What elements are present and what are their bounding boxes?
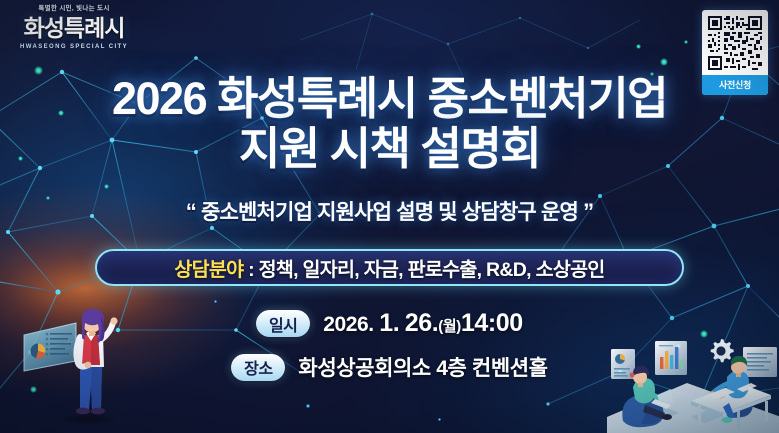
logo-wordmark: 화성특례시 xyxy=(14,17,134,40)
date-year: 2026. xyxy=(323,313,374,336)
venue-row: 장소 화성상공회의소 4층 컨벤션홀 xyxy=(0,352,779,382)
quote-close: ” xyxy=(583,199,593,224)
date-value: 2026. 1. 26.(월)14:00 xyxy=(323,309,523,338)
consultation-field-text: 상담분야 : 정책, 일자리, 자금, 판로수출, R&D, 소상공인 xyxy=(174,253,604,282)
consultation-field-label: 상담분야 xyxy=(174,259,243,281)
event-poster: 특별한 시민, 빛나는 도시 화성특례시 HWASEONG SPECIAL CI… xyxy=(0,0,779,433)
quote-open: “ xyxy=(186,199,196,224)
date-badge: 일시 xyxy=(256,310,310,337)
venue-value: 화성상공회의소 4층 컨벤션홀 xyxy=(298,352,547,382)
date-month: 1. xyxy=(379,309,399,337)
date-weekday: (월) xyxy=(438,318,461,335)
subtitle-text: 중소벤처기업 지원사업 설명 및 상담창구 운영 xyxy=(201,201,578,224)
date-row: 일시 2026. 1. 26.(월)14:00 xyxy=(0,309,779,338)
consultation-field-value: 정책, 일자리, 자금, 판로수출, R&D, 소상공인 xyxy=(259,259,605,281)
page-title: 2026 화성특례시 중소벤처기업 지원 시책 설명회 xyxy=(0,74,779,173)
consultation-field-box: 상담분야 : 정책, 일자리, 자금, 판로수출, R&D, 소상공인 xyxy=(95,249,684,286)
logo-subtext: HWASEONG SPECIAL CITY xyxy=(14,44,134,50)
subtitle: “ 중소벤처기업 지원사업 설명 및 상담창구 운영 ” xyxy=(0,196,779,226)
title-line-1: 2026 화성특례시 중소벤처기업 xyxy=(0,74,779,124)
date-day: 26. xyxy=(405,309,439,337)
qr-code-icon[interactable] xyxy=(706,14,764,72)
date-time: 14:00 xyxy=(461,309,523,337)
venue-badge: 장소 xyxy=(231,354,285,381)
hwaseong-city-logo: 특별한 시민, 빛나는 도시 화성특례시 HWASEONG SPECIAL CI… xyxy=(14,6,134,50)
consultation-field-separator: : xyxy=(243,259,258,281)
logo-tagline: 특별한 시민, 빛나는 도시 xyxy=(14,6,134,13)
title-line-2: 지원 시책 설명회 xyxy=(0,124,779,174)
